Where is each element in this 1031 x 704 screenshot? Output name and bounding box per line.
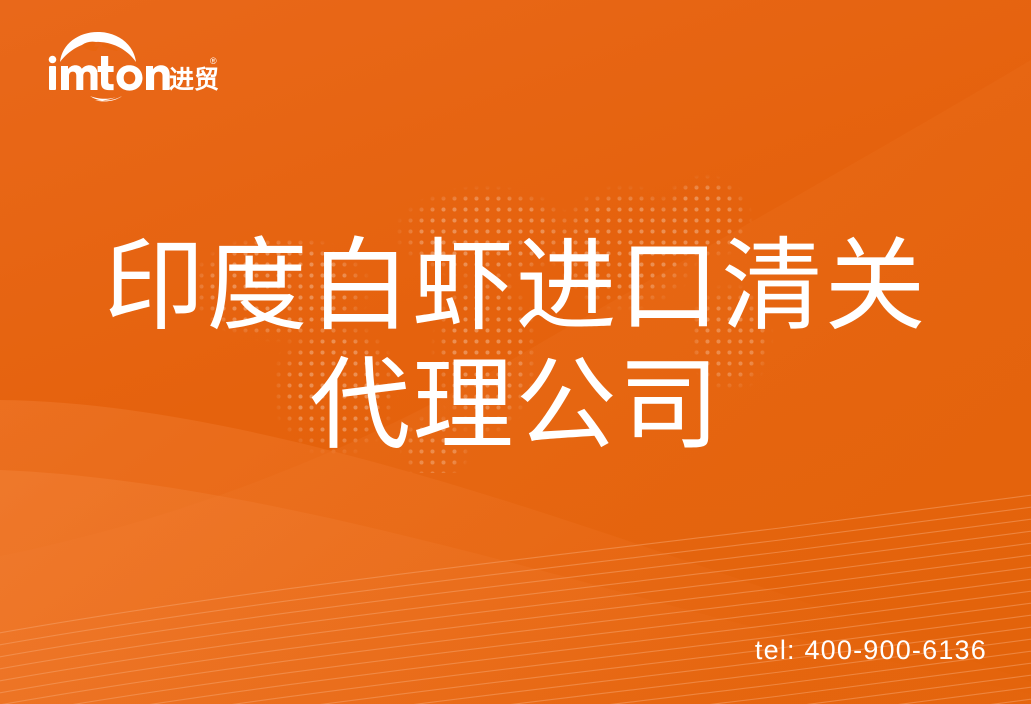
logo-wordmark-latin [49,56,170,91]
globe-icon [60,32,136,62]
contact-phone[interactable]: tel: 400-900-6136 [755,635,987,666]
logo-mark: 进贸通 ® [38,26,218,102]
swoosh-icon [90,96,122,101]
page-title: 印度白虾进口清关 代理公司 [0,228,1031,466]
title-line-1: 印度白虾进口清关 [0,228,1031,347]
promo-poster: 进贸通 ® 印度白虾进口清关 代理公司 tel: 400-900-6136 [0,0,1031,704]
logo-wordmark-chinese: 进贸通 [169,65,218,94]
svg-text:进贸通: 进贸通 [169,65,218,94]
trademark-icon: ® [210,56,217,66]
title-line-2: 代理公司 [0,347,1031,466]
brand-logo[interactable]: 进贸通 ® [38,26,218,102]
